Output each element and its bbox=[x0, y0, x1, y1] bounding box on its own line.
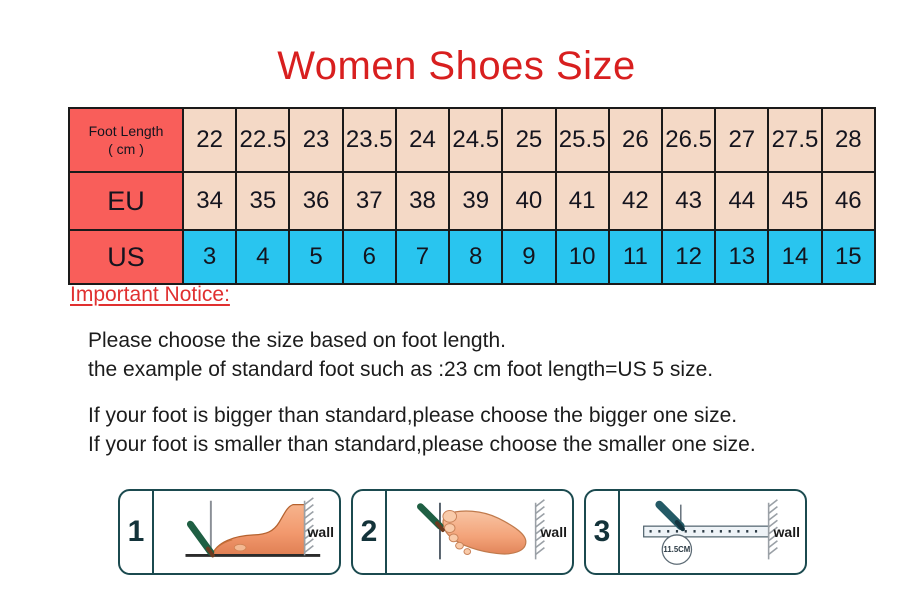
cell-us-8: 11 bbox=[609, 230, 662, 284]
cell-eu-8: 42 bbox=[609, 172, 662, 230]
notice-line-3: If your foot is bigger than standard,ple… bbox=[88, 401, 888, 430]
cell-foot-length-6: 25 bbox=[502, 108, 555, 172]
step-3-number: 3 bbox=[586, 491, 620, 573]
step-2: 2 bbox=[351, 489, 574, 575]
cell-foot-length-9: 26.5 bbox=[662, 108, 715, 172]
cell-us-10: 13 bbox=[715, 230, 768, 284]
page-title: Women Shoes Size bbox=[0, 42, 913, 90]
cell-foot-length-11: 27.5 bbox=[768, 108, 821, 172]
cell-eu-6: 40 bbox=[502, 172, 555, 230]
cell-eu-3: 37 bbox=[343, 172, 396, 230]
table-row-eu: EU 34 35 36 37 38 39 40 41 42 43 44 45 4… bbox=[69, 172, 875, 230]
cell-foot-length-10: 27 bbox=[715, 108, 768, 172]
cell-eu-4: 38 bbox=[396, 172, 449, 230]
cell-foot-length-8: 26 bbox=[609, 108, 662, 172]
cell-foot-length-4: 24 bbox=[396, 108, 449, 172]
row-header-eu: EU bbox=[69, 172, 183, 230]
cell-us-2: 5 bbox=[289, 230, 342, 284]
measurement-badge: 11.5CM bbox=[662, 535, 691, 564]
step-3-wall-label: wall bbox=[774, 524, 800, 540]
step-1: 1 bbox=[118, 489, 341, 575]
step-2-number: 2 bbox=[353, 491, 387, 573]
row-header-foot-length-line2: ( cm ) bbox=[108, 141, 144, 157]
row-header-us: US bbox=[69, 230, 183, 284]
step-1-number: 1 bbox=[120, 491, 154, 573]
notice-line-1: Please choose the size based on foot len… bbox=[88, 326, 888, 355]
step-3-illustration: 11.5CM wall bbox=[620, 491, 805, 573]
notice-line-2: the example of standard foot such as :23… bbox=[88, 355, 888, 384]
table-row-us: US 3 4 5 6 7 8 9 10 11 12 13 14 15 bbox=[69, 230, 875, 284]
cell-us-6: 9 bbox=[502, 230, 555, 284]
notice-heading: Important Notice: bbox=[70, 283, 230, 307]
pencil-icon bbox=[190, 524, 212, 555]
cell-us-9: 12 bbox=[662, 230, 715, 284]
notice-line-4: If your foot is smaller than standard,pl… bbox=[88, 430, 888, 459]
cell-us-11: 14 bbox=[768, 230, 821, 284]
cell-eu-12: 46 bbox=[822, 172, 875, 230]
cell-eu-9: 43 bbox=[662, 172, 715, 230]
step-1-illustration: wall bbox=[154, 491, 339, 573]
cell-foot-length-1: 22.5 bbox=[236, 108, 289, 172]
cell-us-1: 4 bbox=[236, 230, 289, 284]
cell-us-4: 7 bbox=[396, 230, 449, 284]
cell-eu-2: 36 bbox=[289, 172, 342, 230]
cell-eu-5: 39 bbox=[449, 172, 502, 230]
measurement-steps: 1 bbox=[118, 489, 808, 575]
table-row-foot-length: Foot Length ( cm ) 22 22.5 23 23.5 24 24… bbox=[69, 108, 875, 172]
cell-eu-11: 45 bbox=[768, 172, 821, 230]
step-2-illustration: wall bbox=[387, 491, 572, 573]
cell-eu-1: 35 bbox=[236, 172, 289, 230]
cell-foot-length-12: 28 bbox=[822, 108, 875, 172]
row-header-foot-length-line1: Foot Length bbox=[89, 123, 164, 139]
row-header-foot-length: Foot Length ( cm ) bbox=[69, 108, 183, 172]
ruler-icon bbox=[644, 526, 769, 537]
cell-foot-length-0: 22 bbox=[183, 108, 236, 172]
measurement-value: 11.5CM bbox=[663, 545, 690, 554]
notice-body: Please choose the size based on foot len… bbox=[88, 326, 888, 459]
notice-spacer bbox=[88, 384, 888, 401]
pencil-icon bbox=[659, 505, 682, 529]
step-3: 3 bbox=[584, 489, 807, 575]
step-2-wall-label: wall bbox=[541, 524, 567, 540]
cell-foot-length-5: 24.5 bbox=[449, 108, 502, 172]
cell-foot-length-2: 23 bbox=[289, 108, 342, 172]
cell-us-3: 6 bbox=[343, 230, 396, 284]
cell-eu-10: 44 bbox=[715, 172, 768, 230]
cell-foot-length-3: 23.5 bbox=[343, 108, 396, 172]
cell-foot-length-7: 25.5 bbox=[556, 108, 609, 172]
cell-us-12: 15 bbox=[822, 230, 875, 284]
cell-eu-7: 41 bbox=[556, 172, 609, 230]
step-1-wall-label: wall bbox=[308, 524, 334, 540]
cell-us-0: 3 bbox=[183, 230, 236, 284]
cell-us-5: 8 bbox=[449, 230, 502, 284]
size-chart-table: Foot Length ( cm ) 22 22.5 23 23.5 24 24… bbox=[68, 107, 876, 285]
cell-us-7: 10 bbox=[556, 230, 609, 284]
cell-eu-0: 34 bbox=[183, 172, 236, 230]
